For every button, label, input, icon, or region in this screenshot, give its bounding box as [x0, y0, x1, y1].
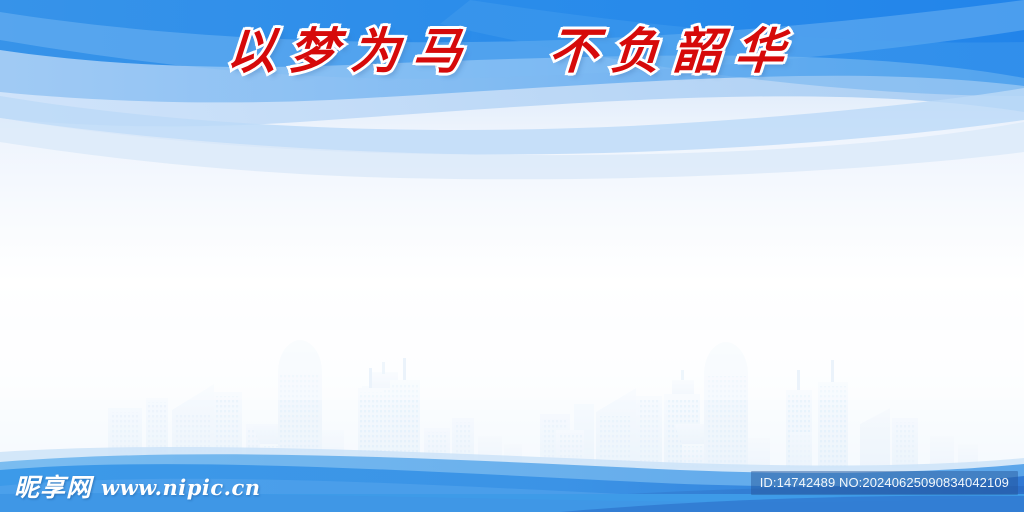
watermark-brand: 昵享网 www.nipic.cn — [14, 475, 261, 500]
nipic-logo: 昵享网 — [14, 475, 92, 500]
watermark-id-badge: ID:14742489 NO:20240625090834042109 — [751, 471, 1018, 495]
nipic-url: www.nipic.cn — [101, 477, 261, 498]
poster-canvas: 以梦为马 不负韶华 昵享网 www.nipic.cn ID:14742489 N… — [0, 0, 1024, 512]
background-artwork — [0, 0, 1024, 512]
top-wave-group — [0, 0, 1024, 179]
